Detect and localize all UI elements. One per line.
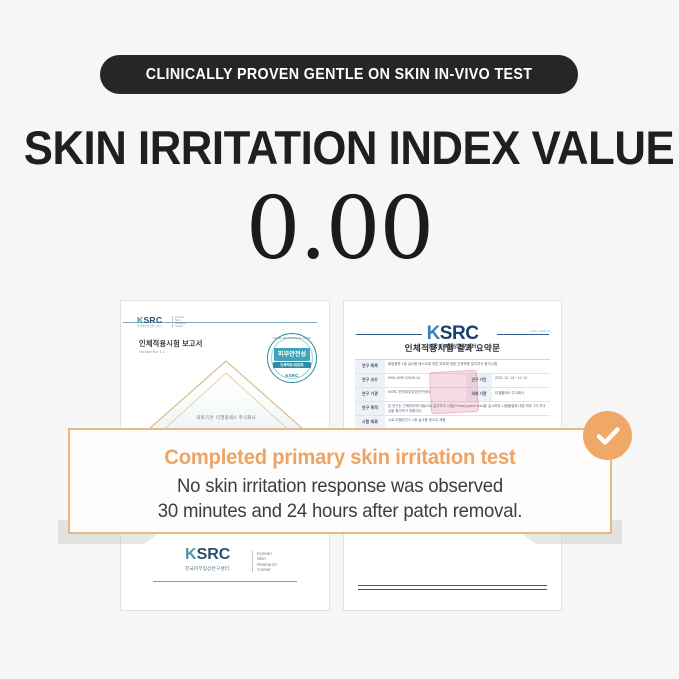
ksrc-footer-sub: 한국피부임상연구센터 [185,566,229,572]
row-label: 연구 기관 [355,388,385,401]
clinical-proof-banner: CLINICALLY PROVEN GENTLE ON SKIN IN-VIVO… [100,55,578,94]
table-row: 연구 제목 화장품류 1종 실사용 테스트에 따른 피부에 대한 인체적용 일차… [355,360,550,374]
row-label-secondary: 의뢰 기관 [466,388,492,401]
ksrc-logo-large-rest: SRC [197,546,231,563]
callout-line-2: 30 minutes and 24 hours after patch remo… [84,500,597,523]
callout-headline: Completed primary skin irritation test [81,446,599,470]
row-value-secondary: 티엘플래스 주식회사 [492,388,550,401]
ksrc-logo-sub-small: 한국피부임상연구센터 [137,324,162,328]
check-icon [583,411,632,460]
report-title: 인체적용시험 보고서 [139,339,203,349]
seal-band-line2: 안전성 [289,352,306,358]
footer-rule [153,581,297,582]
watermark-caption: 의뢰기관: 티엘플래스 주식회사 [129,415,323,421]
ksrc-footer-en-line-4: Center [257,567,277,572]
row-value: HRD-AHR-22026-1A [385,374,466,387]
table-row: 연구 코드 HRD-AHR-22026-1A 연구 기간 2022. 12. 1… [355,374,550,388]
report-version: Version No. 1.1 [139,350,165,354]
summary-corner-note: KSRC-R&D-01 [530,329,551,333]
ksrc-footer-en: Korean Skin Research Center [252,551,277,572]
callout-line-1: No skin irritation response was observed [84,475,597,498]
result-callout-box: Completed primary skin irritation test N… [68,428,612,534]
letterhead-rule-right [187,322,315,323]
banner-label: CLINICALLY PROVEN GENTLE ON SKIN IN-VIVO… [146,66,533,84]
row-value: 화장품류 1종 실사용 테스트에 따른 피부에 대한 인체적용 일차자극 평가시… [385,360,550,373]
ksrc-logo-en-small: Korean Skin Research Center [172,316,187,328]
irritation-index-value: 0.00 [0,179,679,279]
summary-title: 인체적용시험 결과 요약문 [344,342,561,354]
report-letterhead: KSRC 한국피부임상연구센터 Korean Skin Research Cen… [137,315,315,329]
table-row: 연구 목적 본 연구는 인체피부에 대상으로 일차자극 시험(Primary p… [355,402,550,416]
ksrc-summary-k: K [427,323,440,344]
ksrc-logo-large: KSRC [185,546,230,564]
page-title: SKIN IRRITATION INDEX VALUE [24,120,655,175]
row-label: 연구 코드 [355,374,385,387]
page-root: CLINICALLY PROVEN GENTLE ON SKIN IN-VIVO… [0,0,679,679]
row-label-secondary: 연구 기간 [466,374,492,387]
row-label: 연구 목적 [355,402,385,415]
seal-band-line1: 피부 [278,352,289,358]
row-value: 본 연구는 인체피부에 대상으로 일차자극 시험(Primary patch t… [385,402,550,415]
row-label: 연구 제목 [355,360,385,373]
ksrc-summary-rest: SRC [440,323,479,344]
summary-footer-rule [358,585,547,590]
ksrc-logo-large-k: K [185,546,197,563]
table-row: 연구 기관 KSRC 한국피부임상연구센터 의뢰 기관 티엘플래스 주식회사 [355,388,550,402]
ksrc-en-line-4: Center [175,325,187,328]
check-icon-glyph [593,421,623,451]
row-value: KSRC 한국피부임상연구센터 [385,388,466,401]
row-value-secondary: 2022. 12. 13 ~ 12. 14 [492,374,550,387]
